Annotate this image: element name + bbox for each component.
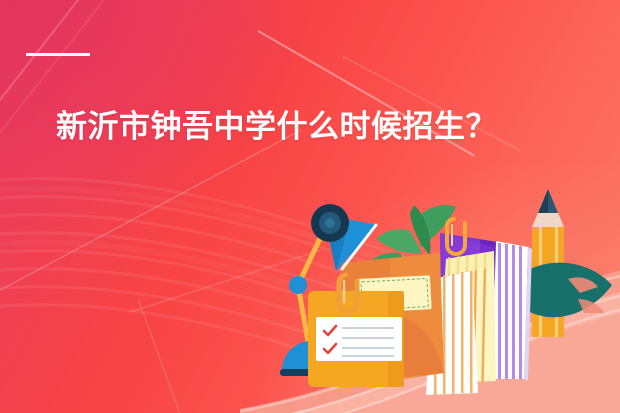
lamp-joint-icon [289,276,307,294]
promo-banner: 新沂市钟吾中学什么时候招生？ [0,0,620,413]
school-supplies-illustration [280,175,620,413]
book-striped-white-icon [492,241,532,381]
clipboard-icon [308,275,404,387]
banner-title: 新沂市钟吾中学什么时候招生？ [56,101,497,146]
accent-rule [26,53,90,56]
